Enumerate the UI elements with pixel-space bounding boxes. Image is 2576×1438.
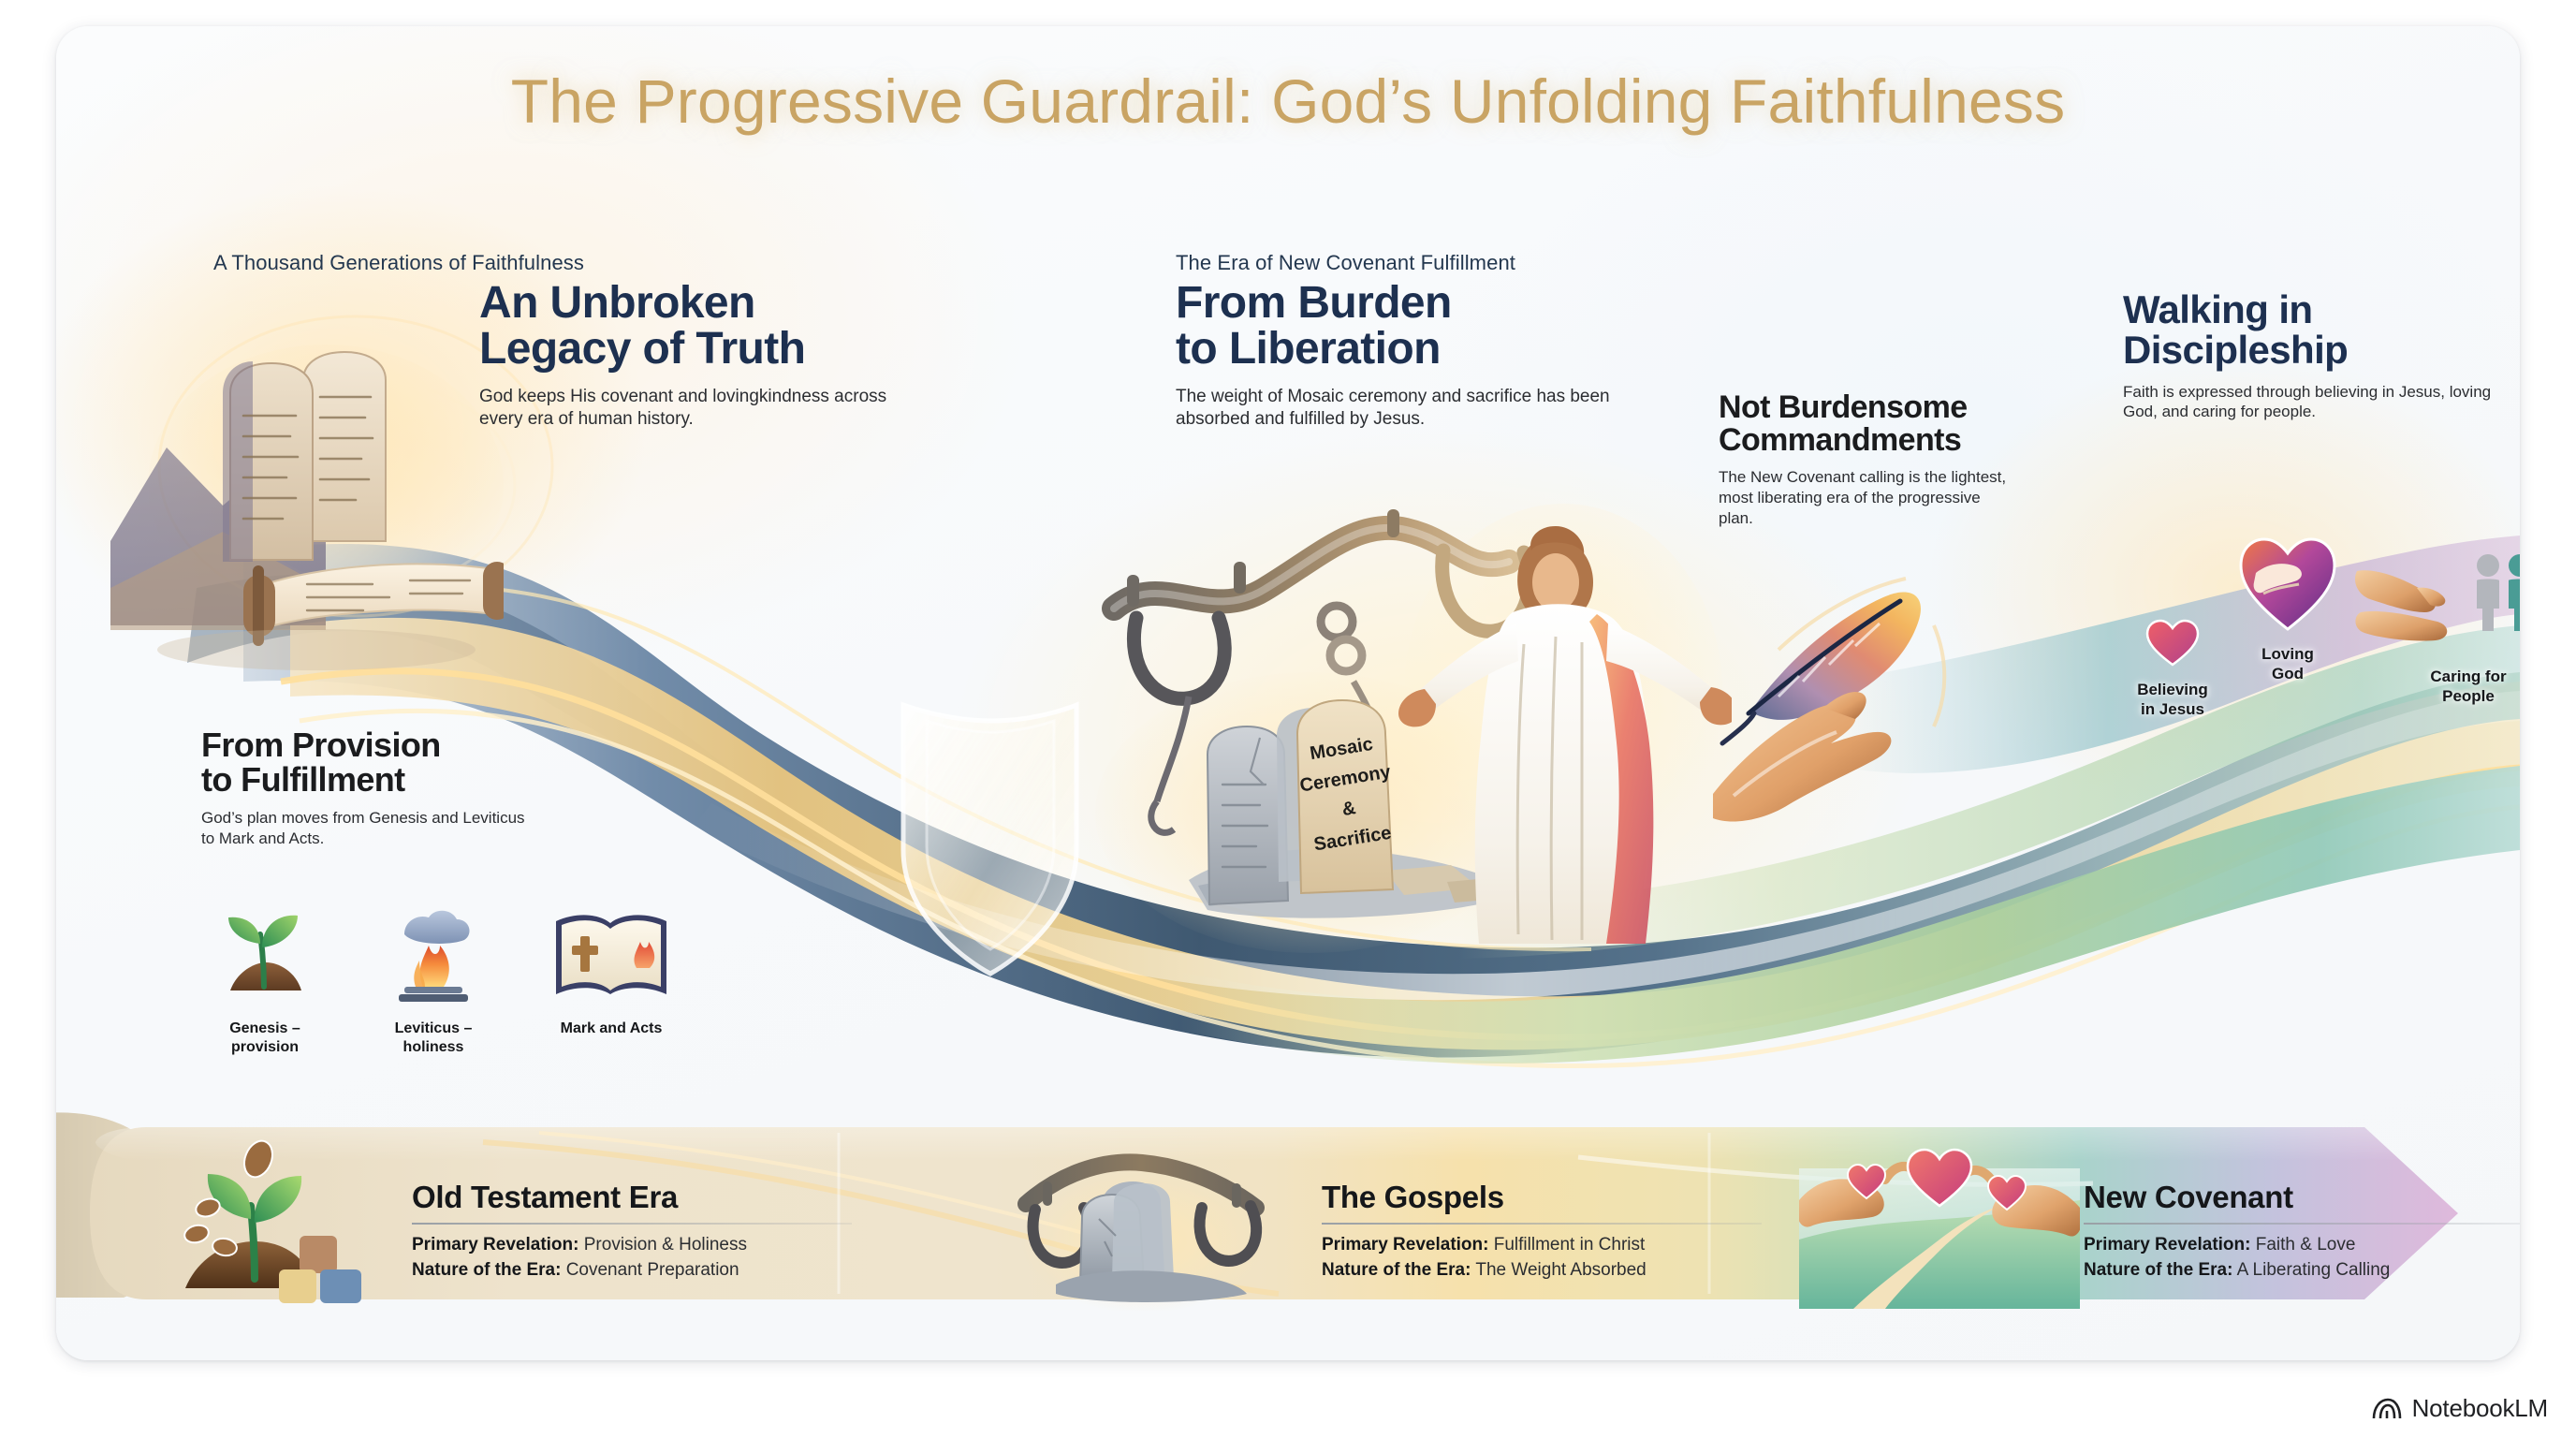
stage-title-nc: New Covenant bbox=[2084, 1180, 2520, 1215]
body-provision: God’s plan moves from Genesis and Leviti… bbox=[201, 808, 529, 849]
body-walking: Faith is expressed through believing in … bbox=[2123, 382, 2507, 423]
eyebrow-legacy: A Thousand Generations of Faithfulness bbox=[213, 251, 584, 275]
stage-rule-ot bbox=[412, 1223, 852, 1225]
ot-icon-leviticus: Leviticus – holiness bbox=[382, 904, 485, 1056]
value-nature-gospels: The Weight Absorbed bbox=[1475, 1260, 1646, 1280]
ot-caption-leviticus-2: holiness bbox=[382, 1038, 485, 1057]
infographic-poster: The Progressive Guardrail: God’s Unfoldi… bbox=[56, 26, 2520, 1360]
heading-notburden-line1: Not Burdensome bbox=[1719, 391, 2018, 424]
altar-fire-icon bbox=[382, 904, 485, 1007]
ot-caption-genesis-1: Genesis – bbox=[213, 1020, 316, 1038]
ot-icon-mark-acts: Mark and Acts bbox=[550, 904, 672, 1056]
heading-walking-line2: Discipleship bbox=[2123, 330, 2516, 371]
value-nature-nc: A Liberating Calling bbox=[2237, 1260, 2391, 1280]
seedling-icon bbox=[213, 904, 316, 1007]
nc-icon-caring: Caring for People bbox=[2351, 550, 2520, 706]
stage-title-gospels: The Gospels bbox=[1322, 1180, 1762, 1215]
stage-nature-nc: Nature of the Era: A Liberating Calling bbox=[2084, 1258, 2520, 1284]
body-legacy: God keeps His covenant and lovingkindnes… bbox=[479, 386, 891, 432]
yoke-tablets-christ-illustration: Mosaic Ceremony & Sacrifice bbox=[1076, 504, 1732, 990]
yoke-over-tablets-icon bbox=[1002, 1152, 1282, 1311]
ot-caption-genesis-2: provision bbox=[213, 1038, 316, 1057]
nc-caption-caring-1: Caring for bbox=[2351, 668, 2520, 687]
nc-caption-believing-1: Believing bbox=[2112, 681, 2233, 700]
label-nature-ot: Nature of the Era: bbox=[412, 1260, 561, 1280]
label-primary-gospels: Primary Revelation: bbox=[1322, 1235, 1488, 1255]
ot-caption-leviticus-1: Leviticus – bbox=[382, 1020, 485, 1038]
feather-and-open-hand-illustration bbox=[1713, 560, 2087, 831]
heading-burden-line2: to Liberation bbox=[1176, 327, 1625, 373]
nc-caption-loving-2: God bbox=[2222, 665, 2353, 684]
stage-rule-nc bbox=[2084, 1223, 2520, 1225]
body-burden: The weight of Mosaic ceremony and sacrif… bbox=[1176, 386, 1616, 432]
eyebrow-burden: The Era of New Covenant Fulfillment bbox=[1176, 251, 1515, 275]
nc-caption-believing-2: in Jesus bbox=[2112, 700, 2233, 720]
nc-icon-loving-god: Loving God bbox=[2222, 532, 2353, 683]
body-notburden: The New Covenant calling is the lightest… bbox=[1719, 467, 2018, 528]
small-heart-icon bbox=[2145, 618, 2200, 668]
heading-legacy-line2: Legacy of Truth bbox=[479, 327, 919, 373]
helping-hands-people-icon bbox=[2351, 550, 2520, 655]
open-bible-icon bbox=[550, 904, 672, 1007]
nc-caption-caring-2: People bbox=[2351, 687, 2520, 707]
value-primary-ot: Provision & Holiness bbox=[584, 1235, 747, 1255]
value-primary-gospels: Fulfillment in Christ bbox=[1494, 1235, 1646, 1255]
value-nature-ot: Covenant Preparation bbox=[566, 1260, 739, 1280]
timeline-stage-old-testament: Old Testament Era Primary Revelation: Pr… bbox=[412, 1180, 852, 1284]
sprout-with-seeds-icon bbox=[157, 1138, 391, 1307]
timeline-stage-gospels: The Gospels Primary Revelation: Fulfillm… bbox=[1322, 1180, 1762, 1284]
label-primary-ot: Primary Revelation: bbox=[412, 1235, 578, 1255]
open-hands-with-hearts-icon bbox=[1799, 1137, 2080, 1309]
stage-primary-ot: Primary Revelation: Provision & Holiness bbox=[412, 1233, 852, 1258]
section-burden: From Burden to Liberation The weight of … bbox=[1176, 281, 1625, 432]
stage-title-ot: Old Testament Era bbox=[412, 1180, 852, 1215]
ot-icon-genesis: Genesis – provision bbox=[213, 904, 316, 1056]
section-provision: From Provision to Fulfillment God’s plan… bbox=[201, 728, 529, 849]
label-nature-gospels: Nature of the Era: bbox=[1322, 1260, 1471, 1280]
watermark-label: NotebookLM bbox=[2412, 1394, 2548, 1423]
stage-nature-gospels: Nature of the Era: The Weight Absorbed bbox=[1322, 1258, 1762, 1284]
label-nature-nc: Nature of the Era: bbox=[2084, 1260, 2232, 1280]
heading-provision-line2: to Fulfillment bbox=[201, 763, 529, 798]
section-legacy: An Unbroken Legacy of Truth God keeps Hi… bbox=[479, 281, 919, 432]
notebooklm-watermark: NotebookLM bbox=[2371, 1394, 2548, 1423]
heading-walking-line1: Walking in bbox=[2123, 290, 2516, 330]
stage-rule-gospels bbox=[1322, 1223, 1762, 1225]
heading-burden-line1: From Burden bbox=[1176, 281, 1625, 327]
ot-icon-row: Genesis – provision bbox=[213, 904, 672, 1056]
section-not-burdensome: Not Burdensome Commandments The New Cove… bbox=[1719, 391, 2018, 529]
heading-provision-line1: From Provision bbox=[201, 728, 529, 763]
heading-notburden-line2: Commandments bbox=[1719, 424, 2018, 457]
stage-primary-gospels: Primary Revelation: Fulfillment in Chris… bbox=[1322, 1233, 1762, 1258]
hand-in-heart-icon bbox=[2235, 532, 2340, 633]
stage-nature-ot: Nature of the Era: Covenant Preparation bbox=[412, 1258, 852, 1284]
nc-caption-loving-1: Loving bbox=[2222, 645, 2353, 665]
nc-icon-group: Believing in Jesus Loving God bbox=[2112, 532, 2520, 747]
ot-caption-markacts-1: Mark and Acts bbox=[550, 1020, 672, 1038]
stage-primary-nc: Primary Revelation: Faith & Love bbox=[2084, 1233, 2520, 1258]
nc-icon-believing: Believing in Jesus bbox=[2112, 618, 2233, 719]
value-primary-nc: Faith & Love bbox=[2256, 1235, 2356, 1255]
notebooklm-icon bbox=[2371, 1397, 2403, 1421]
heading-legacy-line1: An Unbroken bbox=[479, 281, 919, 327]
stone-tablets-and-scroll-icon bbox=[110, 307, 504, 682]
label-primary-nc: Primary Revelation: bbox=[2084, 1235, 2250, 1255]
timeline-stage-new-covenant: New Covenant Primary Revelation: Faith &… bbox=[2084, 1180, 2520, 1284]
section-walking-discipleship: Walking in Discipleship Faith is express… bbox=[2123, 290, 2516, 422]
